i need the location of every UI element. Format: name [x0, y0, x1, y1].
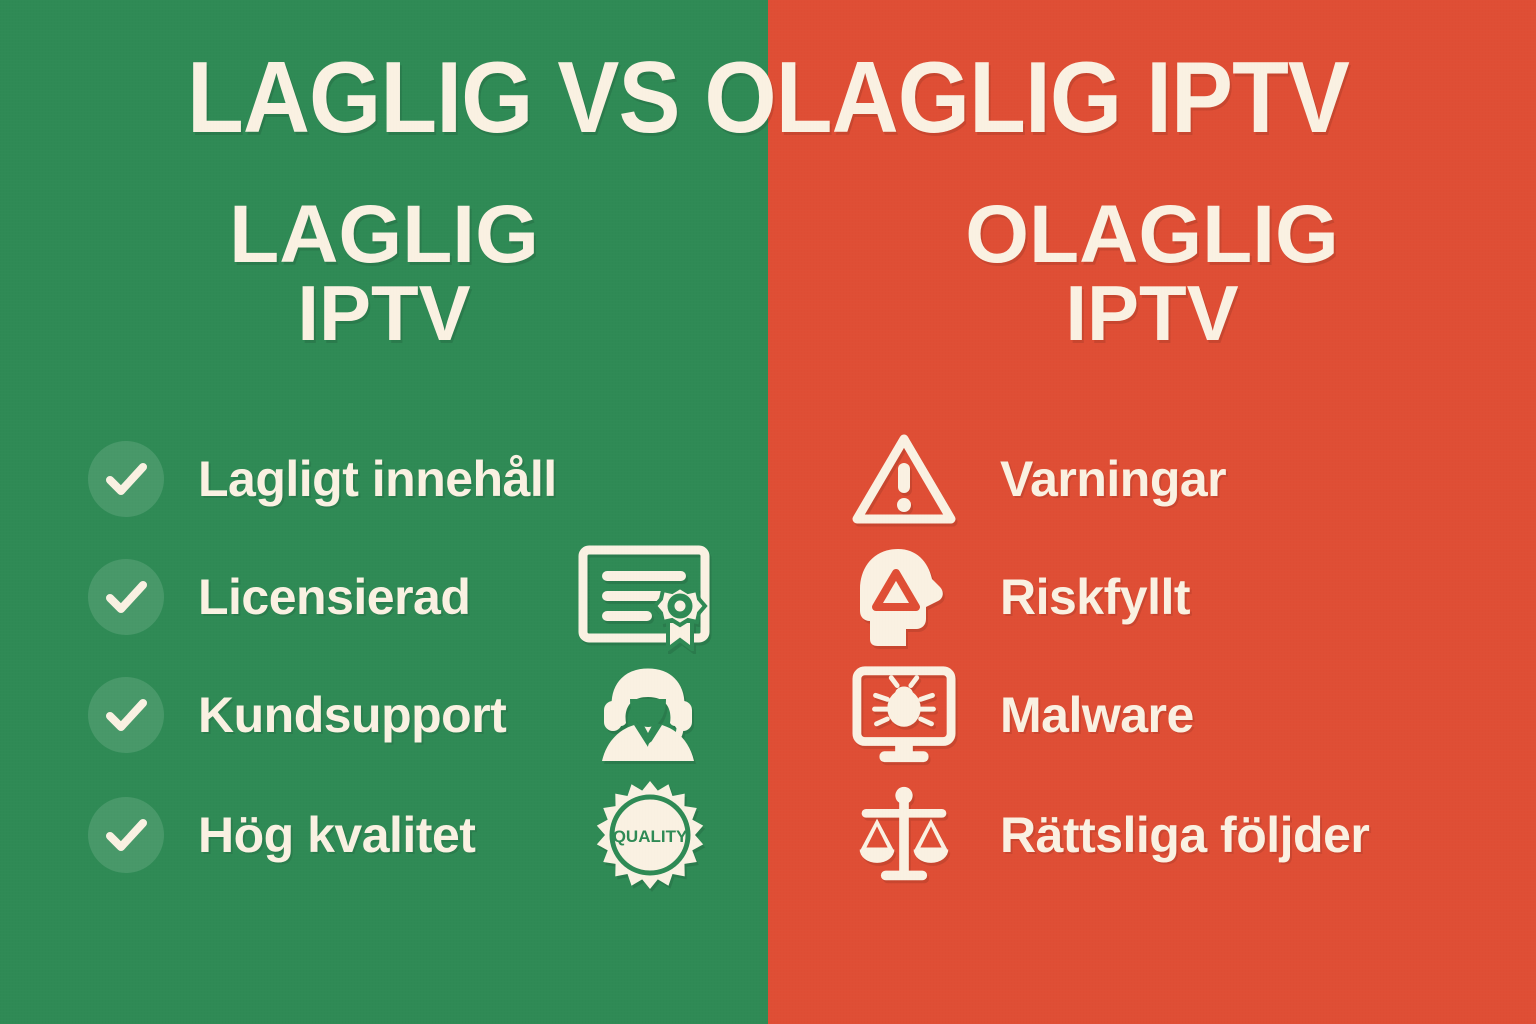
check-glyph	[101, 572, 151, 622]
check-icon	[88, 559, 164, 635]
certificate-icon	[576, 543, 716, 651]
list-item-label: Licensierad	[198, 568, 470, 626]
quality-badge-label: QUALITY	[613, 827, 688, 846]
infographic-canvas: LAGLIG VS OLAGLIG IPTV LAGLIG IPTV OLAGL…	[0, 0, 1536, 1024]
legal-heading-line1: LAGLIG	[229, 189, 539, 280]
scales-glyph	[852, 782, 956, 888]
check-glyph	[101, 810, 151, 860]
check-glyph	[101, 690, 151, 740]
legal-column-heading: LAGLIG IPTV	[0, 195, 768, 352]
list-item: Kundsupport	[0, 656, 768, 774]
list-item-label: Rättsliga följder	[1000, 806, 1369, 864]
illegal-heading-line2: IPTV	[768, 275, 1536, 351]
legal-heading-line2: IPTV	[0, 275, 768, 351]
monitor-bug-icon	[852, 665, 956, 765]
list-item: Lagligt innehåll	[0, 420, 768, 538]
list-item: Riskfyllt	[768, 538, 1536, 656]
list-item: Varningar	[768, 420, 1536, 538]
list-item-label: Varningar	[1000, 450, 1226, 508]
scales-of-justice-icon	[852, 782, 956, 888]
quality-badge-icon: QUALITY	[594, 779, 706, 891]
illegal-column-heading: OLAGLIG IPTV	[768, 195, 1536, 352]
check-icon	[88, 441, 164, 517]
page-title: LAGLIG VS OLAGLIG IPTV	[61, 48, 1474, 149]
list-item: Malware	[768, 656, 1536, 774]
list-item: Licensierad	[0, 538, 768, 656]
warning-triangle-icon	[852, 431, 956, 527]
list-item-label: Riskfyllt	[1000, 568, 1190, 626]
list-item-label: Kundsupport	[198, 686, 506, 744]
monitor-bug-glyph	[852, 665, 956, 765]
list-item: Hög kvalitet QUALITY	[0, 776, 768, 894]
list-item-label: Hög kvalitet	[198, 806, 475, 864]
support-headset-icon	[594, 661, 702, 769]
check-icon	[88, 677, 164, 753]
list-item: Rättsliga följder	[768, 776, 1536, 894]
illegal-heading-line1: OLAGLIG	[965, 189, 1339, 280]
head-risk-glyph	[854, 545, 954, 649]
check-glyph	[101, 454, 151, 504]
warning-triangle-glyph	[852, 431, 956, 527]
check-icon	[88, 797, 164, 873]
list-item-label: Malware	[1000, 686, 1194, 744]
head-risk-icon	[852, 545, 956, 649]
list-item-label: Lagligt innehåll	[198, 450, 557, 508]
